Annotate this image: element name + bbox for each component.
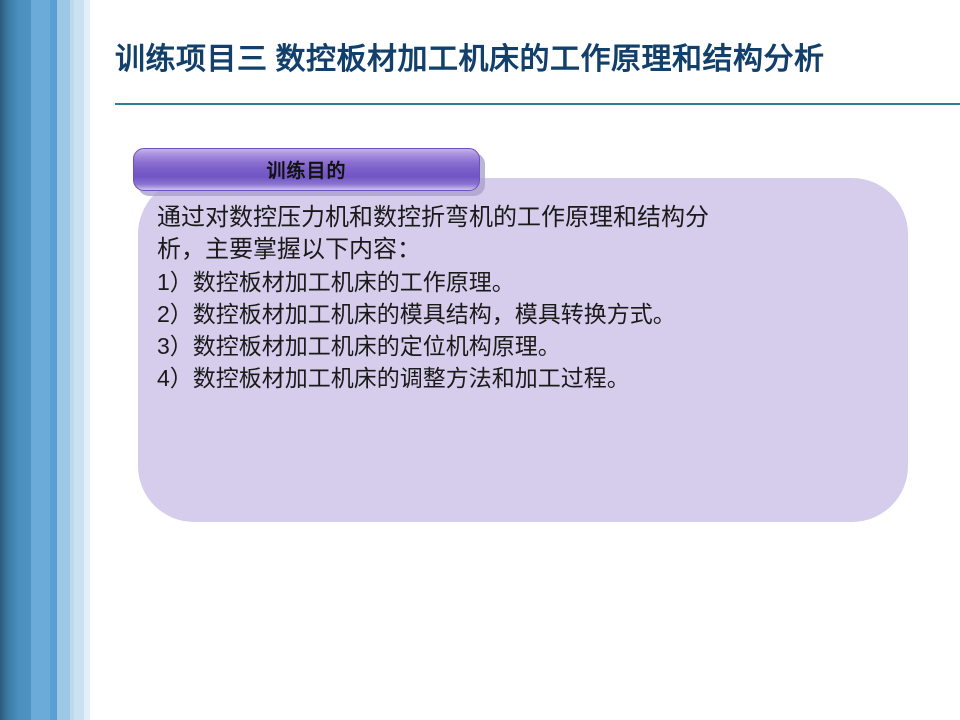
intro-line-2: 析，主要掌握以下内容：	[157, 234, 897, 266]
list-item-4: 4）数控板材加工机床的调整方法和加工过程。	[157, 362, 897, 394]
banner-label: 训练目的	[266, 156, 346, 183]
list-item-2: 2）数控板材加工机床的模具结构，模具转换方式。	[157, 298, 897, 330]
list-item-1: 1）数控板材加工机床的工作原理。	[157, 266, 897, 298]
list-item-3: 3）数控板材加工机床的定位机构原理。	[157, 330, 897, 362]
slide-title: 训练项目三 数控板材加工机床的工作原理和结构分析	[115, 34, 935, 78]
body-text-block: 通过对数控压力机和数控折弯机的工作原理和结构分 析，主要掌握以下内容： 1）数控…	[157, 202, 897, 394]
stripe-light	[57, 0, 70, 720]
banner-pill: 训练目的	[133, 148, 480, 191]
left-stripe-band	[0, 0, 90, 720]
slide-canvas: 训练项目三 数控板材加工机床的工作原理和结构分析 训练目的 通过对数控压力机和数…	[0, 0, 960, 720]
stripe-dark-gradient	[0, 0, 31, 720]
stripe-pale	[74, 0, 83, 720]
section-banner: 训练目的	[133, 148, 480, 193]
title-divider-rule	[115, 103, 960, 105]
stripe-medium	[31, 0, 50, 720]
intro-line-1: 通过对数控压力机和数控折弯机的工作原理和结构分	[157, 202, 897, 234]
stripe-palest	[84, 0, 91, 720]
